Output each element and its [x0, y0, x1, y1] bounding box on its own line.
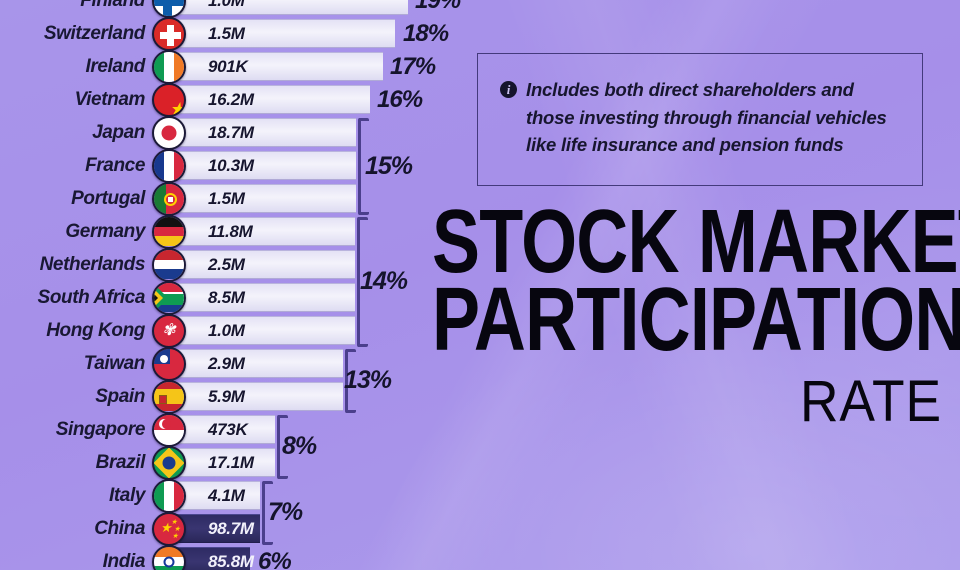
country-label: India: [103, 551, 145, 570]
table-row: 4.1MItaly: [0, 479, 470, 512]
bar-investor-count: 98.7M: [208, 519, 254, 539]
table-row: 17.1MBrazil: [0, 446, 470, 479]
bar-investor-count: 17.1M: [208, 453, 254, 473]
flag-icon-pt: [152, 182, 186, 216]
bar: 10.3M: [163, 151, 356, 180]
percentage-label: 14%: [360, 267, 407, 296]
country-label: Germany: [65, 221, 145, 243]
bar-investor-count: 1.0M: [208, 0, 245, 11]
bar-investor-count: 1.5M: [208, 189, 245, 209]
country-label: Switzerland: [44, 23, 145, 45]
flag-icon-it: [152, 479, 186, 513]
percentage-label: 7%: [268, 498, 302, 527]
percentage-label: 15%: [365, 152, 412, 181]
percentage-label: 8%: [282, 432, 316, 461]
country-label: Spain: [95, 386, 145, 408]
country-label: Ireland: [86, 56, 146, 78]
bar-investor-count: 5.9M: [208, 387, 245, 407]
flag-icon-sg: [152, 413, 186, 447]
table-row: 2.9MTaiwan: [0, 347, 470, 380]
bar: 2.9M: [163, 349, 343, 378]
bar-investor-count: 1.0M: [208, 321, 245, 341]
flag-icon-fr: [152, 149, 186, 183]
flag-icon-hk: ✾: [152, 314, 186, 348]
bar-investor-count: 16.2M: [208, 90, 254, 110]
bar: 11.8M: [163, 217, 355, 246]
country-label: Finland: [80, 0, 145, 12]
table-row: 1.5MSwitzerland: [0, 17, 470, 50]
title-subtitle: RATE: [473, 368, 942, 435]
table-row: 1.0MFinland: [0, 0, 470, 17]
table-row: 18.7MJapan: [0, 116, 470, 149]
flag-icon-es: [152, 380, 186, 414]
country-label: China: [94, 518, 145, 540]
percentage-label: 16%: [377, 86, 422, 114]
title-line-2: PARTICIPATION: [432, 283, 840, 359]
bar: 1.0M: [163, 0, 408, 15]
info-icon: i: [500, 81, 517, 98]
bar: 5.9M: [163, 382, 343, 411]
table-row: 1.0MHong Kong✾: [0, 314, 470, 347]
bar-investor-count: 2.5M: [208, 255, 245, 275]
table-row: 5.9MSpain: [0, 380, 470, 413]
country-label: Singapore: [56, 419, 145, 441]
bar-investor-count: 8.5M: [208, 288, 245, 308]
percentage-label: 13%: [344, 366, 391, 395]
bar-investor-count: 901K: [208, 57, 247, 77]
flag-icon-jp: [152, 116, 186, 150]
country-label: Brazil: [96, 452, 145, 474]
country-label: Portugal: [71, 188, 145, 210]
bar: 8.5M: [163, 283, 355, 312]
country-label: Japan: [92, 122, 145, 144]
table-row: 473KSingapore: [0, 413, 470, 446]
table-row: 98.7MChina★★★★: [0, 512, 470, 545]
bar: 901K: [163, 52, 383, 81]
percentage-label: 19%: [415, 0, 460, 15]
country-label: Italy: [109, 485, 145, 507]
table-row: 85.8MIndia: [0, 545, 470, 570]
bar-investor-count: 1.5M: [208, 24, 245, 44]
bar-investor-count: 18.7M: [208, 123, 254, 143]
bar: 1.0M: [163, 316, 355, 345]
bar-investor-count: 4.1M: [208, 486, 245, 506]
flag-icon-nl: [152, 248, 186, 282]
country-label: Netherlands: [40, 254, 145, 276]
flag-icon-br: [152, 446, 186, 480]
bar: 18.7M: [163, 118, 356, 147]
flag-icon-tw: [152, 347, 186, 381]
page-title: STOCK MARKET PARTICIPATION RATE: [432, 205, 942, 435]
table-row: 1.5MPortugal: [0, 182, 470, 215]
bar-investor-count: 85.8M: [208, 552, 254, 570]
percentage-label: 18%: [403, 20, 448, 48]
table-row: 11.8MGermany: [0, 215, 470, 248]
bar-investor-count: 473K: [208, 420, 247, 440]
flag-icon-za: [152, 281, 186, 315]
country-label: Hong Kong: [46, 320, 145, 342]
flag-icon-in: [152, 545, 186, 570]
bar: 1.5M: [163, 19, 395, 48]
bar: 2.5M: [163, 250, 355, 279]
flag-icon-ie: [152, 50, 186, 84]
info-callout: i Includes both direct shareholders and …: [477, 53, 923, 186]
bar-investor-count: 10.3M: [208, 156, 254, 176]
flag-icon-de: [152, 215, 186, 249]
country-label: France: [85, 155, 145, 177]
percentage-label: 6%: [258, 548, 291, 570]
percentage-label: 17%: [390, 53, 435, 81]
bar: 1.5M: [163, 184, 356, 213]
flag-icon-vn: ★: [152, 83, 186, 117]
country-label: Vietnam: [75, 89, 145, 111]
bar-investor-count: 2.9M: [208, 354, 245, 374]
bar-investor-count: 11.8M: [208, 222, 253, 242]
bar: 16.2M: [163, 85, 370, 114]
flag-icon-cn: ★★★★: [152, 512, 186, 546]
bar-chart: 1.0MFinland1.5MSwitzerland901KIreland16.…: [0, 0, 470, 570]
flag-icon-ch: [152, 17, 186, 51]
info-callout-text: Includes both direct shareholders and th…: [526, 76, 898, 159]
country-label: South Africa: [38, 287, 145, 309]
country-label: Taiwan: [84, 353, 145, 375]
